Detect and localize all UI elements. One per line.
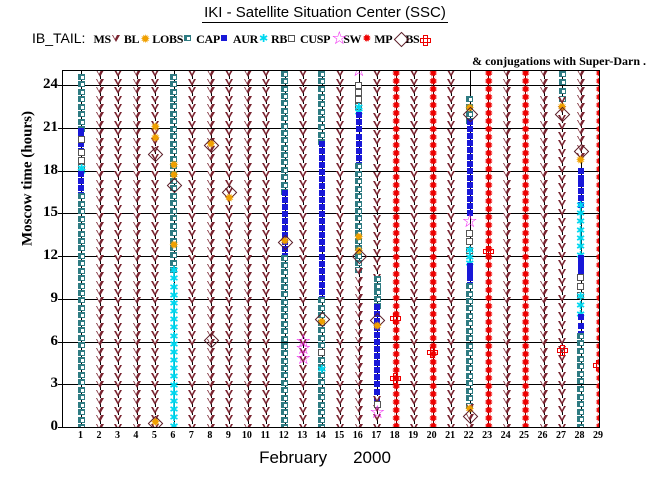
marker-ms-icon <box>540 205 548 212</box>
marker-cap-icon <box>467 161 473 167</box>
marker-ms-icon <box>188 314 196 321</box>
marker-ms-icon <box>114 323 122 330</box>
marker-ms-icon <box>558 278 566 285</box>
marker-ms-icon <box>558 303 566 310</box>
marker-ms-icon <box>540 171 548 178</box>
marker-ms-icon <box>225 121 233 128</box>
marker-ms-icon <box>133 415 141 422</box>
marker-bl-icon: ✹ <box>354 233 364 243</box>
marker-cap-icon <box>374 367 380 373</box>
marker-ms-icon <box>151 289 159 296</box>
marker-lobs-icon <box>466 343 473 349</box>
day-column-18: ✹✹✹✹✹✹✹✹✹✹✹✹✹✹✹✹✹✹✹✹✹✹✹✹✹✹✹✹✹✹✹✹✹✹✹✹✹✹✹✹… <box>386 71 404 427</box>
marker-ms-icon <box>151 390 159 397</box>
legend-symbol-asterisk-cyan: ✱ <box>258 33 270 45</box>
marker-ms-icon <box>114 424 122 429</box>
marker-ms-icon <box>503 205 511 212</box>
marker-rb-icon <box>318 349 325 356</box>
legend-symbol-star-magenta: ☆ <box>330 33 342 45</box>
marker-ms-icon <box>151 205 159 212</box>
marker-ms-icon <box>503 87 511 94</box>
x-tick-label: 10 <box>238 431 256 441</box>
marker-lobs-icon <box>318 101 325 107</box>
marker-lobs-icon <box>466 373 473 379</box>
marker-ms-icon <box>114 213 122 220</box>
marker-ms-icon <box>299 398 307 405</box>
marker-lobs-icon <box>78 201 85 207</box>
marker-ms-icon <box>558 157 566 164</box>
marker-ms-icon <box>151 255 159 262</box>
marker-rb-icon <box>78 149 85 156</box>
marker-ms-icon <box>207 87 215 94</box>
marker-ms-icon <box>225 314 233 321</box>
x-axis-year: 2000 <box>353 448 391 467</box>
marker-ms-icon <box>410 323 418 330</box>
marker-ms-icon <box>503 289 511 296</box>
marker-ms-icon <box>96 79 104 86</box>
marker-ms-icon <box>96 121 104 128</box>
marker-ms-icon <box>262 196 270 203</box>
marker-ms-icon <box>503 306 511 313</box>
marker-ms-icon <box>447 424 455 429</box>
marker-ms-icon <box>207 398 215 405</box>
marker-ms-icon <box>373 232 381 239</box>
marker-ms-icon <box>447 289 455 296</box>
marker-ms-icon <box>96 373 104 380</box>
marker-lobs-icon <box>281 358 288 364</box>
legend-symbol-cross-red <box>419 33 431 45</box>
marker-ms-icon <box>262 213 270 220</box>
marker-lobs-icon <box>78 387 85 393</box>
marker-lobs-icon <box>78 305 85 311</box>
marker-cap-icon <box>578 168 584 174</box>
marker-ms-icon <box>225 356 233 363</box>
marker-ms-icon <box>151 87 159 94</box>
marker-ms-icon <box>244 230 252 237</box>
marker-ms-icon <box>558 355 566 362</box>
marker-ms-icon <box>244 180 252 187</box>
marker-lobs-icon <box>78 402 85 408</box>
marker-ms-icon <box>558 175 566 182</box>
marker-ms-icon <box>114 272 122 279</box>
marker-ms-icon <box>114 230 122 237</box>
marker-ms-icon <box>188 96 196 103</box>
marker-ms-icon <box>262 247 270 254</box>
marker-ms-icon <box>188 222 196 229</box>
marker-ms-icon <box>299 239 307 246</box>
marker-cap-icon <box>319 254 325 260</box>
marker-ms-icon <box>133 104 141 111</box>
day-column-26 <box>534 71 552 427</box>
marker-ms-icon <box>558 312 566 319</box>
marker-ms-icon <box>133 247 141 254</box>
marker-lobs-icon <box>78 424 85 428</box>
marker-lobs-icon <box>281 182 288 188</box>
page-title-text: IKI - Satellite Situation Center (SSC) <box>202 4 448 23</box>
marker-ms-icon <box>447 323 455 330</box>
marker-ms-icon <box>96 331 104 338</box>
marker-cap-icon <box>578 261 584 267</box>
marker-ms-icon <box>262 339 270 346</box>
marker-lobs-icon <box>281 291 288 297</box>
marker-ms-icon <box>336 424 344 429</box>
marker-lobs-icon <box>577 363 584 369</box>
marker-ms-icon <box>133 255 141 262</box>
marker-lobs-icon <box>78 327 85 333</box>
marker-lobs-icon <box>78 275 85 281</box>
y-tick-label: 15 <box>6 205 58 220</box>
marker-ms-icon <box>96 272 104 279</box>
marker-cap-icon <box>319 190 325 196</box>
marker-ms-icon <box>114 297 122 304</box>
marker-ms-icon <box>410 348 418 355</box>
day-column-23: ✹✹✹✹✹✹✹✹✹✹✹✹✹✹✹✹✹✹✹✹✹✹✹✹✹✹✹✹✹✹✹✹✹✹✹✹✹✹✹✹… <box>479 71 497 427</box>
marker-ms-icon <box>207 297 215 304</box>
marker-ms-icon <box>207 104 215 111</box>
x-tick-label: 14 <box>312 431 330 441</box>
marker-ms-icon <box>188 138 196 145</box>
marker-cap-icon <box>356 134 362 140</box>
marker-ms-icon <box>540 306 548 313</box>
legend-entry-cap: CAP <box>196 31 232 47</box>
marker-ms-icon <box>447 213 455 220</box>
marker-ms-icon <box>133 323 141 330</box>
marker-ms-icon <box>336 70 344 77</box>
x-tick-label: 18 <box>385 431 403 441</box>
marker-cap-icon <box>319 218 325 224</box>
marker-cap-icon <box>467 196 473 202</box>
marker-lobs-icon <box>78 342 85 348</box>
marker-cap-icon <box>319 211 325 217</box>
marker-ms-icon <box>503 281 511 288</box>
marker-ms-icon <box>207 356 215 363</box>
marker-ms-icon <box>207 154 215 161</box>
marker-ms-icon <box>188 163 196 170</box>
marker-ms-icon <box>225 239 233 246</box>
marker-ms-icon <box>503 213 511 220</box>
marker-ms-icon <box>336 154 344 161</box>
marker-ms-icon <box>96 424 104 429</box>
marker-ms-icon <box>96 163 104 170</box>
marker-ms-icon <box>336 222 344 229</box>
marker-ms-icon <box>410 138 418 145</box>
marker-ms-icon <box>151 180 159 187</box>
marker-ms-icon <box>262 138 270 145</box>
marker-ms-icon <box>262 390 270 397</box>
marker-ms-icon <box>410 163 418 170</box>
marker-lobs-icon <box>78 104 85 110</box>
marker-ms-icon <box>225 96 233 103</box>
marker-lobs-icon <box>78 96 85 102</box>
marker-ms-icon <box>244 222 252 229</box>
marker-ms-icon <box>410 424 418 429</box>
marker-ms-icon <box>336 230 344 237</box>
x-tick-label: 5 <box>145 431 163 441</box>
marker-bl-icon: ✹ <box>169 241 179 251</box>
marker-sw-icon: ✹ <box>521 423 529 428</box>
marker-ms-icon <box>503 247 511 254</box>
marker-ms-icon <box>355 329 363 336</box>
marker-cap-icon <box>319 155 325 161</box>
marker-ms-icon <box>447 247 455 254</box>
marker-ms-icon <box>262 121 270 128</box>
marker-ms-icon <box>540 196 548 203</box>
marker-ms-icon <box>373 240 381 247</box>
marker-ms-icon <box>410 180 418 187</box>
marker-cap-icon <box>356 112 362 118</box>
legend: IB_TAIL:MSBL✹LOBSCAPAUR✱RBCUSP☆SW✹MPBS <box>32 30 432 47</box>
marker-ms-icon <box>188 264 196 271</box>
marker-ms-icon <box>503 112 511 119</box>
marker-rb-icon <box>78 136 85 143</box>
marker-ms-icon <box>355 424 363 429</box>
marker-ms-icon <box>225 70 233 77</box>
marker-ms-icon <box>503 146 511 153</box>
marker-ms-icon <box>207 348 215 355</box>
marker-lobs-icon <box>577 333 584 339</box>
marker-ms-icon <box>447 356 455 363</box>
marker-ms-icon <box>299 272 307 279</box>
marker-ms-icon <box>207 314 215 321</box>
marker-ms-icon <box>373 164 381 171</box>
marker-cap-icon <box>319 148 325 154</box>
marker-lobs-icon <box>281 255 288 261</box>
marker-ms-icon <box>503 264 511 271</box>
marker-ms-icon <box>447 255 455 262</box>
day-column-3 <box>109 71 127 427</box>
marker-ms-icon <box>558 295 566 302</box>
marker-ms-icon <box>577 128 585 135</box>
day-column-2 <box>91 71 109 427</box>
marker-ms-icon <box>503 163 511 170</box>
marker-ms-icon <box>503 230 511 237</box>
marker-ms-icon <box>540 96 548 103</box>
marker-ms-icon <box>336 205 344 212</box>
marker-ms-icon <box>225 163 233 170</box>
marker-ms-icon <box>96 70 104 77</box>
marker-ms-icon <box>410 205 418 212</box>
marker-ms-icon <box>355 337 363 344</box>
marker-ms-icon <box>503 239 511 246</box>
marker-ms-icon <box>244 381 252 388</box>
marker-ms-icon <box>373 189 381 196</box>
marker-ms-icon <box>151 163 159 170</box>
marker-ms-icon <box>262 222 270 229</box>
marker-lobs-icon <box>281 417 288 423</box>
marker-lobs-icon <box>466 358 473 364</box>
marker-ms-icon <box>207 424 215 429</box>
marker-lobs-icon <box>170 141 177 147</box>
marker-ms-icon <box>447 314 455 321</box>
marker-ms-icon <box>188 398 196 405</box>
marker-ms-icon <box>225 381 233 388</box>
marker-ms-icon <box>114 281 122 288</box>
marker-ms-icon <box>133 188 141 195</box>
marker-ms-icon <box>503 331 511 338</box>
marker-ms-icon <box>373 206 381 213</box>
marker-ms-icon <box>225 171 233 178</box>
marker-ms-icon <box>96 230 104 237</box>
marker-ms-icon <box>207 222 215 229</box>
marker-ms-icon <box>299 306 307 313</box>
marker-ms-icon <box>558 209 566 216</box>
marker-ms-icon <box>355 389 363 396</box>
marker-ms-icon <box>558 149 566 156</box>
marker-lobs-icon <box>281 93 288 99</box>
marker-ms-icon <box>447 180 455 187</box>
marker-cap-icon <box>467 154 473 160</box>
marker-cusp-icon: ☆ <box>295 334 311 350</box>
marker-ms-icon <box>262 255 270 262</box>
day-column-5: ✹✹✹ <box>146 71 164 427</box>
marker-ms-icon <box>262 163 270 170</box>
x-axis-ticks: 1234567891011121314151617181920212223242… <box>62 431 600 445</box>
marker-lobs-icon <box>78 245 85 251</box>
marker-lobs-icon <box>559 71 566 77</box>
marker-ms-icon <box>447 79 455 86</box>
marker-ms-icon <box>299 154 307 161</box>
marker-ms-icon <box>410 373 418 380</box>
marker-ms-icon <box>503 70 511 77</box>
marker-lobs-icon <box>78 231 85 237</box>
day-column-8: ✹ <box>202 71 220 427</box>
marker-ms-icon <box>262 272 270 279</box>
day-column-27: ✹ <box>553 71 571 427</box>
marker-lobs-icon <box>318 357 325 363</box>
marker-cap-icon <box>374 389 380 395</box>
marker-ms-icon <box>447 390 455 397</box>
x-tick-label: 21 <box>441 431 459 441</box>
marker-ms-icon <box>244 365 252 372</box>
marker-ms-icon <box>503 171 511 178</box>
marker-ms-icon <box>299 121 307 128</box>
day-column-24 <box>497 71 515 427</box>
marker-ms-icon <box>114 306 122 313</box>
marker-cap-icon <box>374 304 380 310</box>
x-tick-label: 3 <box>108 431 126 441</box>
marker-ms-icon <box>133 121 141 128</box>
marker-ms-icon <box>188 331 196 338</box>
marker-ms-icon <box>410 407 418 414</box>
marker-ms-icon <box>299 297 307 304</box>
marker-ms-icon <box>373 181 381 188</box>
marker-cap-icon <box>356 141 362 147</box>
marker-lobs-icon <box>374 276 381 282</box>
marker-ms-icon <box>410 272 418 279</box>
marker-ms-icon <box>336 331 344 338</box>
marker-ms-icon <box>540 272 548 279</box>
marker-ms-icon <box>225 104 233 111</box>
marker-ms-icon <box>207 264 215 271</box>
marker-ms-icon <box>540 230 548 237</box>
marker-ms-icon <box>207 365 215 372</box>
day-column-1: ✱✱ <box>72 71 90 427</box>
y-tick-label: 6 <box>6 334 58 349</box>
marker-lobs-icon <box>281 130 288 136</box>
marker-ms-icon <box>188 339 196 346</box>
marker-ms-icon <box>96 398 104 405</box>
marker-cap-icon <box>282 225 288 231</box>
marker-ms-icon <box>133 239 141 246</box>
day-column-6: ✱✱✱✱✱✱✱✱✱✱✱✱✱✱✱✱✱✱✱✱✹✹✹ <box>165 71 183 427</box>
marker-ms-icon <box>336 171 344 178</box>
marker-lobs-icon <box>355 201 362 207</box>
marker-ms-icon <box>244 373 252 380</box>
marker-ms-icon <box>114 154 122 161</box>
marker-ms-icon <box>114 348 122 355</box>
marker-ms-icon <box>373 249 381 256</box>
marker-mp-icon <box>147 146 163 162</box>
marker-ms-icon <box>540 264 548 271</box>
marker-ms-icon <box>540 314 548 321</box>
marker-ms-icon <box>151 407 159 414</box>
marker-ms-icon <box>262 188 270 195</box>
marker-mp-icon <box>277 234 293 250</box>
marker-ms-icon <box>151 272 159 279</box>
marker-ms-icon <box>133 398 141 405</box>
marker-ms-icon <box>503 415 511 422</box>
marker-lobs-icon <box>577 424 584 428</box>
marker-ms-icon <box>244 306 252 313</box>
marker-lobs-icon <box>466 350 473 356</box>
marker-ms-icon <box>558 200 566 207</box>
marker-lobs-icon <box>318 417 325 423</box>
marker-ms-icon <box>558 406 566 413</box>
marker-lobs-icon <box>281 306 288 312</box>
marker-ms-icon <box>96 138 104 145</box>
marker-lobs-icon <box>577 356 584 362</box>
day-column-14: ✹✱ <box>313 71 331 427</box>
marker-lobs-icon <box>78 74 85 80</box>
marker-bl-icon: ✹ <box>224 194 234 204</box>
marker-lobs-icon <box>78 119 85 125</box>
marker-lobs-icon <box>577 409 584 415</box>
marker-ms-icon <box>558 363 566 370</box>
marker-lobs-icon <box>466 395 473 401</box>
marker-ms-icon <box>540 87 548 94</box>
marker-ms-icon <box>447 146 455 153</box>
marker-ms-icon <box>188 129 196 136</box>
marker-cap-icon <box>282 190 288 196</box>
marker-ms-icon <box>336 196 344 203</box>
marker-cap-icon <box>319 268 325 274</box>
marker-ms-icon <box>151 306 159 313</box>
marker-ms-icon <box>244 188 252 195</box>
marker-rb-icon <box>355 89 362 96</box>
marker-ms-icon <box>410 390 418 397</box>
marker-ms-icon <box>262 70 270 77</box>
marker-ms-icon <box>244 407 252 414</box>
x-axis-label: February2000 <box>0 448 650 468</box>
marker-ms-icon <box>336 96 344 103</box>
marker-lobs-icon <box>78 238 85 244</box>
marker-ms-icon <box>244 314 252 321</box>
x-tick-label: 1 <box>71 431 89 441</box>
marker-ms-icon <box>133 339 141 346</box>
marker-ms-icon <box>207 381 215 388</box>
marker-lobs-icon <box>281 372 288 378</box>
marker-ms-icon <box>262 129 270 136</box>
marker-ms-icon <box>503 381 511 388</box>
marker-ms-icon <box>410 297 418 304</box>
marker-lobs-icon <box>281 313 288 319</box>
marker-ms-icon <box>244 289 252 296</box>
marker-ms-icon <box>336 339 344 346</box>
x-tick-label: 15 <box>330 431 348 441</box>
marker-ms-icon <box>244 264 252 271</box>
marker-lobs-icon <box>466 283 473 289</box>
marker-ms-icon <box>225 297 233 304</box>
